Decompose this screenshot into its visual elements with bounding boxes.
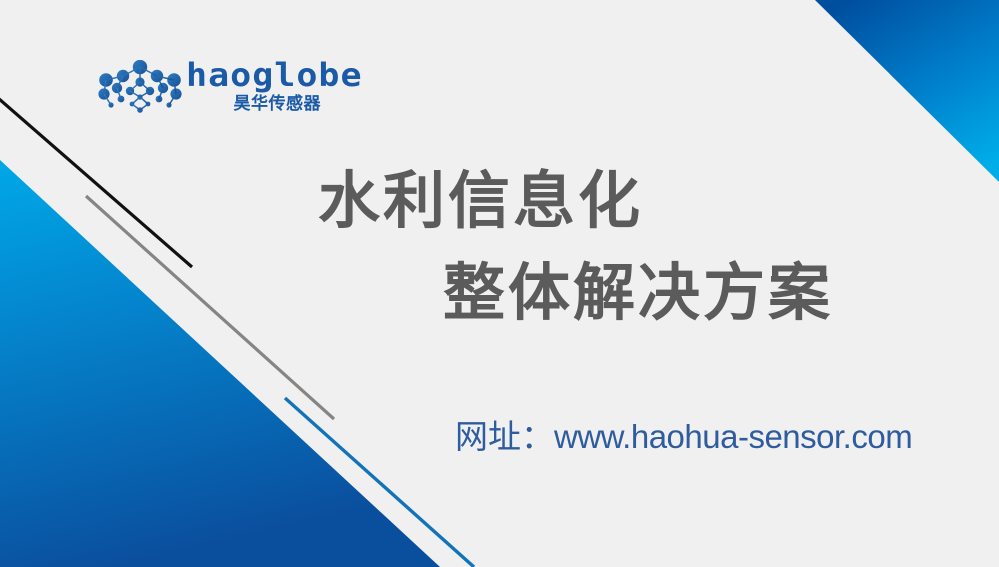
presentation-slide: haoglobe 昊华传感器 水利信息化 整体解决方案 网址：www.haohu… <box>0 0 999 567</box>
website-line: 网址：www.haohua-sensor.com <box>455 420 912 453</box>
logo-wordmark: haoglobe <box>186 60 363 92</box>
corner-triangle-shape <box>815 0 999 182</box>
logo-subtitle-cn: 昊华传感器 <box>234 96 322 113</box>
haoglobe-molecule-logo <box>96 60 184 118</box>
left-triangle-shape <box>0 160 440 567</box>
website-label: 网址： <box>455 417 554 456</box>
website-url: www.haohua-sensor.com <box>554 418 912 455</box>
company-logo: haoglobe 昊华传感器 <box>96 56 321 124</box>
